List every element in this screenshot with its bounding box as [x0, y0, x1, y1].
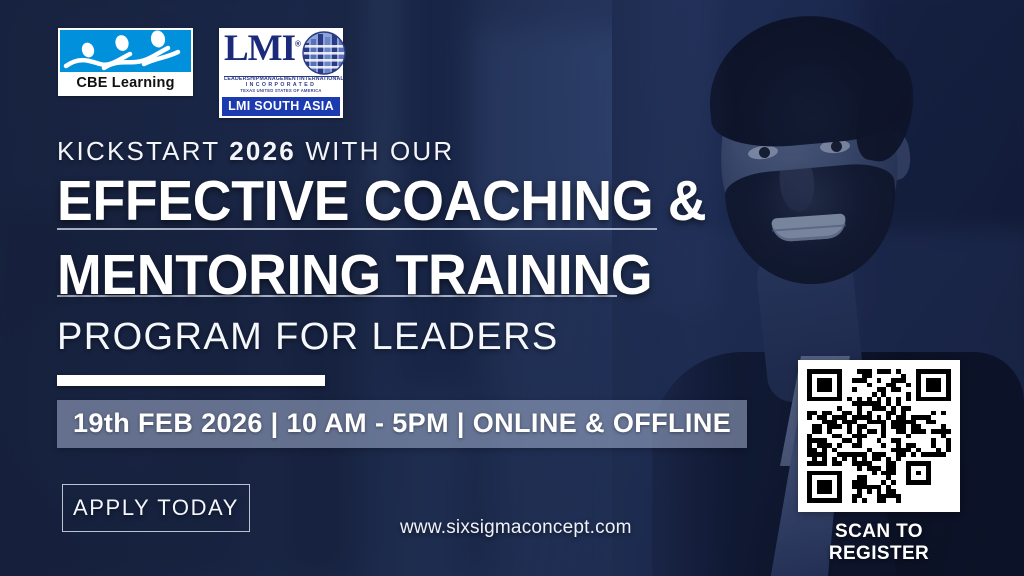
headline-line-2: MENTORING TRAINING — [57, 247, 696, 304]
eyebrow-year: 2026 — [229, 136, 296, 166]
event-details-bar: 19th FEB 2026 | 10 AM - 5PM | ONLINE & O… — [57, 400, 747, 448]
lmi-south-asia-band: LMI SOUTH ASIA — [222, 97, 340, 116]
globe-grid-icon — [302, 31, 346, 75]
lmi-wordmark: LMI® — [222, 31, 300, 67]
registered-mark-icon: ® — [295, 40, 300, 49]
website-url[interactable]: www.sixsigmaconcept.com — [400, 517, 632, 539]
promo-banner: CBE Learning LMI® — [0, 0, 1024, 576]
eyebrow-text: KICKSTART 2026 WITH OUR — [57, 136, 737, 167]
qr-caption: SCAN TO REGISTER — [798, 521, 960, 565]
logo-row: CBE Learning LMI® — [58, 28, 343, 118]
hero-copy: KICKSTART 2026 WITH OUR EFFECTIVE COACHI… — [57, 136, 737, 448]
lmi-south-asia-logo: LMI® — [219, 28, 343, 118]
cbe-learning-wordmark: CBE Learning — [60, 72, 191, 94]
headline-line-1: EFFECTIVE COACHING & — [57, 173, 696, 230]
lmi-tagline-line3: TEXAS UNITED STATES OF AMERICA — [222, 89, 340, 94]
qr-code[interactable] — [798, 360, 960, 512]
accent-rule — [57, 375, 325, 386]
apply-today-label: APPLY TODAY — [73, 495, 239, 521]
qr-block: SCAN TO REGISTER — [798, 360, 960, 565]
event-details-text: 19th FEB 2026 | 10 AM - 5PM | ONLINE & O… — [73, 408, 731, 438]
cbe-learning-logo: CBE Learning — [58, 28, 193, 96]
qr-module-grid — [807, 369, 951, 503]
apply-today-button[interactable]: APPLY TODAY — [62, 484, 250, 532]
subheadline: PROGRAM FOR LEADERS — [57, 316, 737, 359]
three-running-figures-icon — [60, 30, 191, 72]
